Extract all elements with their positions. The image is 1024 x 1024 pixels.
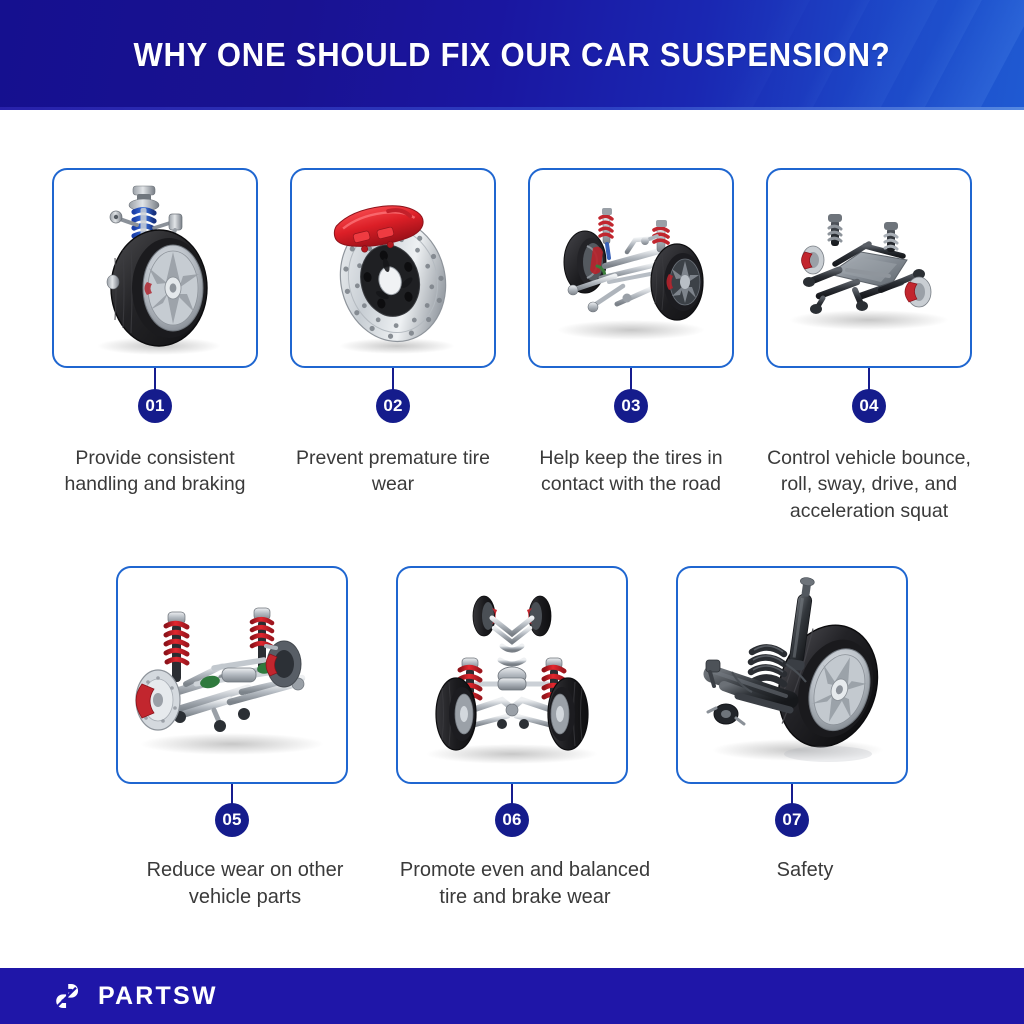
number-badge-07: 07 [775,803,809,837]
benefit-row-1: 01 Provide consistent handling and braki… [0,110,1024,524]
footer-bar: PARTSW [0,968,1024,1024]
number-badge-01: 01 [138,389,172,423]
number-badge-02: 02 [376,389,410,423]
benefit-item-04[interactable]: 04 Control vehicle bounce, roll, sway, d… [766,168,972,524]
header-banner: WHY ONE SHOULD FIX OUR CAR SUSPENSION? [0,0,1024,110]
number-badge-05: 05 [215,803,249,837]
benefit-caption-01: Provide consistent handling and braking [52,445,258,498]
benefit-caption-03: Help keep the tires in contact with the … [528,445,734,498]
image-card-04 [766,168,972,368]
connector-line [630,368,632,390]
content-area: 01 Provide consistent handling and braki… [0,110,1024,968]
four-wheel-chassis-image [398,568,626,782]
benefit-row-2: 05 Reduce wear on other vehicle parts [0,524,1024,911]
image-card-01 [52,168,258,368]
drilled-brake-rotor-with-red-caliper-image [293,170,493,366]
number-badge-03: 03 [614,389,648,423]
connector-line [392,368,394,390]
two-wheel-suspension-assembly-image [531,170,731,366]
partsw-link-logo-icon [52,981,82,1011]
benefit-caption-06: Promote even and balanced tire and brake… [396,857,654,911]
benefit-item-05[interactable]: 05 Reduce wear on other vehicle parts [116,566,348,911]
rear-suspension-subframe-image [769,170,969,366]
connector-line [511,784,513,804]
benefit-caption-04: Control vehicle bounce, roll, sway, driv… [766,445,972,524]
image-card-03 [528,168,734,368]
benefit-caption-07: Safety [676,857,934,884]
image-card-05 [116,566,348,784]
image-card-06 [396,566,628,784]
benefit-caption-02: Prevent premature tire wear [290,445,496,498]
benefit-item-06[interactable]: 06 Promote even and balanced tire and br… [396,566,628,911]
front-subframe-with-red-coilovers-image [118,568,346,782]
brand-name: PARTSW [98,982,218,1011]
rear-axle-shock-spring-wheel-image [678,568,906,782]
image-card-02 [290,168,496,368]
benefit-item-03[interactable]: 03 Help keep the tires in contact with t… [528,168,734,498]
connector-line [791,784,793,804]
number-badge-06: 06 [495,803,529,837]
connector-line [868,368,870,390]
number-badge-04: 04 [852,389,886,423]
wheel-with-blue-coilover-strut-image [55,170,255,366]
benefit-item-07[interactable]: 07 Safety [676,566,908,884]
infographic-page: WHY ONE SHOULD FIX OUR CAR SUSPENSION? [0,0,1024,1024]
benefit-item-02[interactable]: 02 Prevent premature tire wear [290,168,496,498]
connector-line [154,368,156,390]
page-title: WHY ONE SHOULD FIX OUR CAR SUSPENSION? [31,36,994,74]
connector-line [231,784,233,804]
benefit-caption-05: Reduce wear on other vehicle parts [116,857,374,911]
benefit-item-01[interactable]: 01 Provide consistent handling and braki… [52,168,258,498]
image-card-07 [676,566,908,784]
